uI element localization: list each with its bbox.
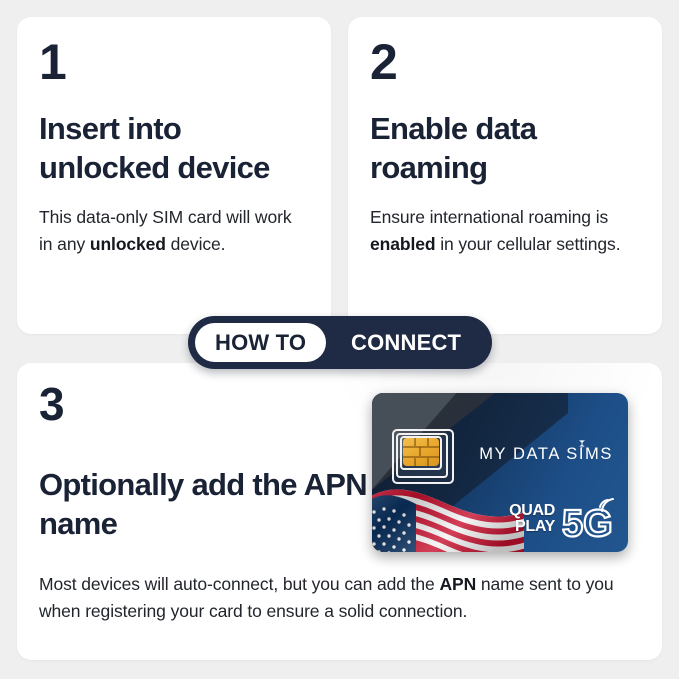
badge-connect-label: CONNECT	[326, 330, 492, 356]
step-2-body-bold: enabled	[370, 234, 435, 254]
sim-chip-icon	[392, 429, 454, 484]
sim-gold-chip	[403, 438, 439, 466]
step-card-2: 2 Enable data roaming Ensure internation…	[348, 17, 662, 334]
step-1-body: This data-only SIM card will work in any…	[39, 204, 309, 257]
step-1-body-part-2: device.	[166, 234, 226, 254]
step-2-body-part-1: Ensure international roaming is	[370, 207, 608, 227]
step-2-number: 2	[370, 37, 640, 87]
step-3-body: Most devices will auto-connect, but you …	[39, 571, 639, 624]
step-card-1: 1 Insert into unlocked device This data-…	[17, 17, 331, 334]
quad-play-5g-logo: QUAD PLAY 5G	[509, 498, 615, 540]
sim-brand-text: MY DATA SIMS	[479, 445, 613, 464]
step-1-number: 1	[39, 37, 309, 87]
sim-brand-part-2: MS	[585, 445, 613, 463]
step-2-body: Ensure international roaming is enabled …	[370, 204, 640, 257]
fiveg-text: 5G	[562, 503, 613, 540]
step-2-body-part-2: in your cellular settings.	[435, 234, 620, 254]
play-label: PLAY	[509, 519, 555, 535]
infographic-root: 1 Insert into unlocked device This data-…	[0, 0, 679, 679]
step-3-title: Optionally add the APN name	[39, 465, 369, 543]
sim-brand-part-1: MY DATA S	[479, 445, 579, 463]
quad-play-text: QUAD PLAY	[509, 503, 555, 535]
quad-label: QUAD	[509, 503, 555, 519]
step-3-body-part-1: Most devices will auto-connect, but you …	[39, 574, 439, 594]
step-3-body-bold: APN	[439, 574, 476, 594]
step-1-title: Insert into unlocked device	[39, 109, 309, 187]
cell-tower-icon	[577, 435, 586, 444]
step-card-1-content: 1 Insert into unlocked device This data-…	[17, 17, 331, 257]
sim-brand-i-group: I	[579, 445, 585, 464]
step-1-body-bold: unlocked	[90, 234, 166, 254]
step-2-title: Enable data roaming	[370, 109, 640, 187]
us-flag-icon	[372, 472, 526, 552]
how-to-connect-badge: HOW TO CONNECT	[188, 316, 492, 369]
badge-howto-pill: HOW TO	[195, 323, 326, 362]
step-card-2-content: 2 Enable data roaming Ensure internation…	[348, 17, 662, 257]
fiveg-badge: 5G	[561, 498, 615, 540]
sim-card-image: MY DATA SIMS QUAD PLAY 5G	[372, 393, 628, 552]
